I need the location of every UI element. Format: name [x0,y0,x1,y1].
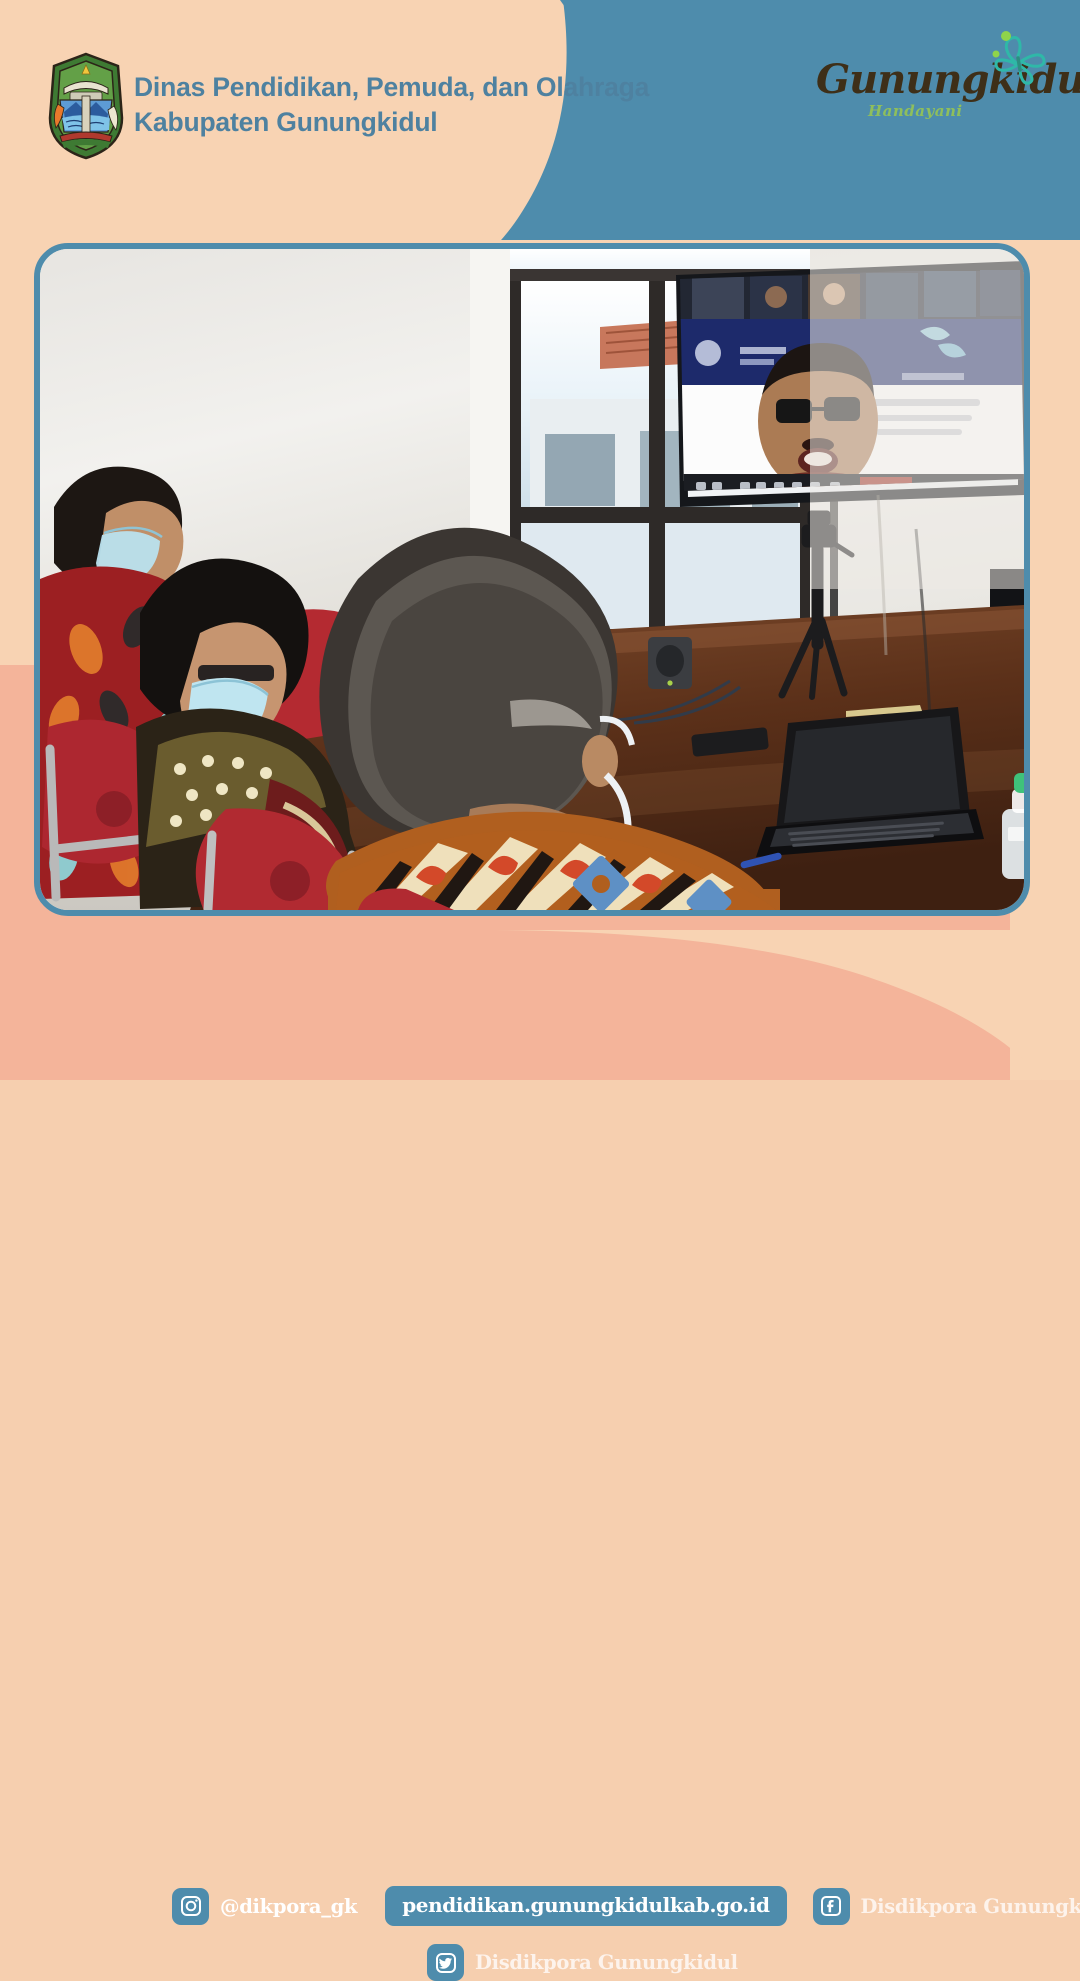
page-header: Dinas Pendidikan, Pemuda, dan Olahraga K… [0,0,1080,230]
twitter-handle[interactable]: Disdikpora Gunungkidul [475,1951,738,1974]
facebook-page-name[interactable]: Disdikpora Gunungkidul [861,1895,1080,1918]
footer-row-primary: @dikpora_gk pendidikan.gunungkidulkab.go… [172,1886,1080,1926]
facebook-icon[interactable] [813,1888,850,1925]
dragonfly-ornament-icon [984,28,1050,86]
website-url-pill[interactable]: pendidikan.gunungkidulkab.go.id [385,1886,786,1926]
page-title: Dinas Pendidikan, Pemuda, dan Olahraga K… [134,70,649,140]
instagram-icon[interactable] [172,1888,209,1925]
footer-social-bar: @dikpora_gk pendidikan.gunungkidulkab.go… [0,930,1080,1080]
footer-row-twitter: Disdikpora Gunungkidul [427,1944,738,1981]
instagram-handle[interactable]: @dikpora_gk [220,1895,357,1918]
gunungkidul-brand-logo: Gunungkidul Handayani [816,42,1046,134]
photo-content [40,249,1024,910]
twitter-icon[interactable] [427,1944,464,1981]
meeting-photograph [34,243,1030,916]
brand-tagline: Handayani [868,102,963,120]
gunungkidul-regency-crest-icon [44,52,128,160]
laptop [756,705,984,857]
